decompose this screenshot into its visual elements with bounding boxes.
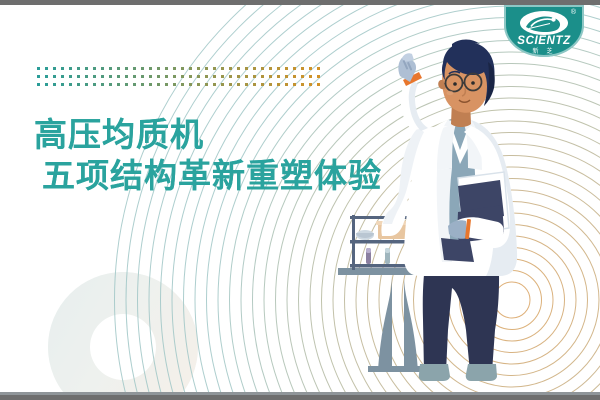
registered-mark: ® xyxy=(571,9,576,16)
scientz-logo[interactable]: ® SCIENTZ 新 芝 xyxy=(504,5,584,57)
logo-ellipse-background xyxy=(520,11,568,35)
bottom-frame-bar xyxy=(0,395,600,400)
scientz-swoosh-icon xyxy=(520,11,568,35)
top-frame-bar xyxy=(0,0,600,5)
lab-scientist-scene xyxy=(0,0,600,400)
logo-brand-subtitle: 新 芝 xyxy=(504,46,584,55)
scientist-figure xyxy=(381,40,517,382)
promo-banner: 高压均质机 五项结构革新重塑体验 ® SCIENTZ 新 芝 xyxy=(0,0,600,400)
